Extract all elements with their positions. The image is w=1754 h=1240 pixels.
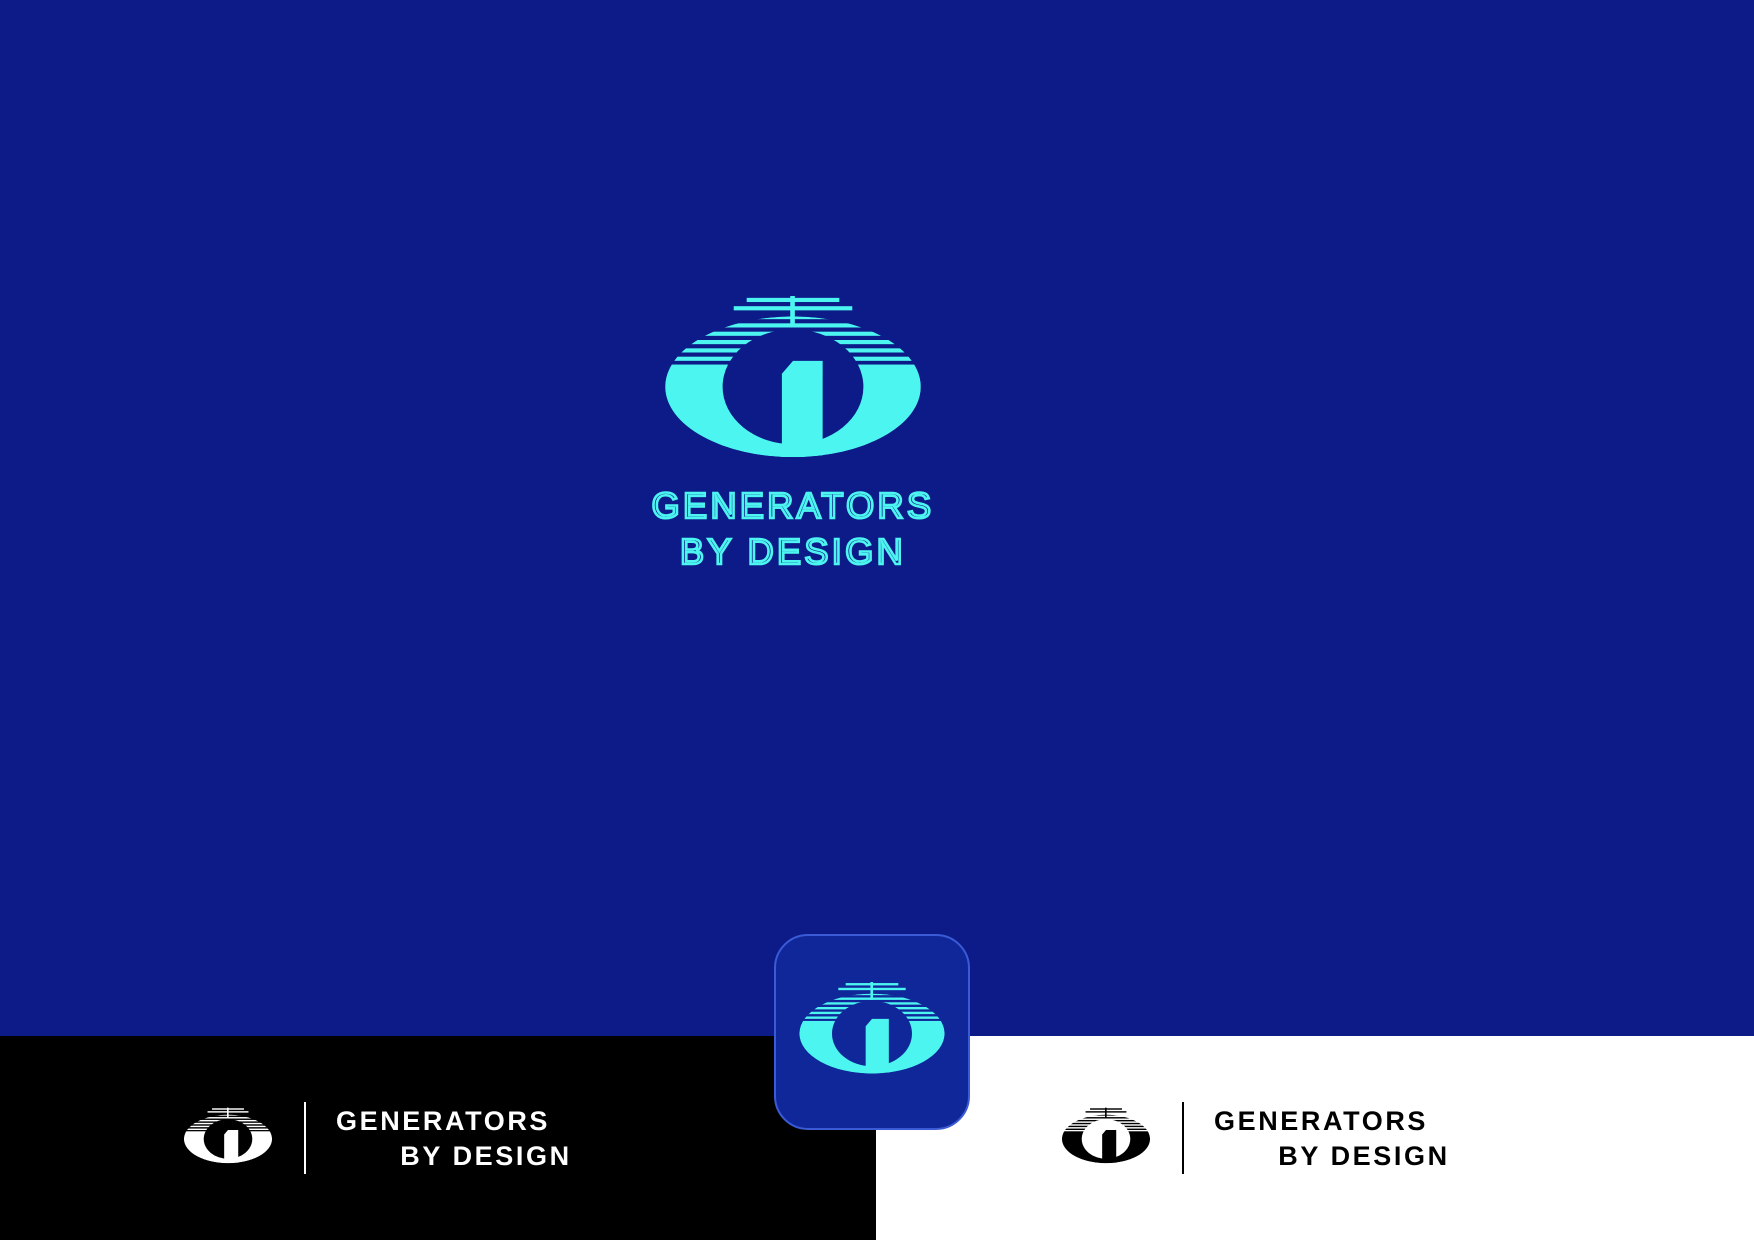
- lockup-divider: [304, 1102, 306, 1174]
- primary-wordmark: GENERATORS BY DESIGN: [621, 486, 965, 572]
- wordmark-line-1: GENERATORS: [336, 1106, 636, 1136]
- app-icon-tile[interactable]: [774, 934, 970, 1130]
- svg-text:GENERATORS: GENERATORS: [1214, 1106, 1428, 1136]
- logo-mark-icon-cyan: [796, 982, 948, 1082]
- wordmark-line-2: BY DESIGN: [1214, 1141, 1514, 1171]
- svg-text:GENERATORS: GENERATORS: [652, 486, 935, 526]
- wordmark-line-1: GENERATORS: [621, 486, 965, 526]
- wordmark-line-2: BY DESIGN: [643, 532, 943, 572]
- svg-text:BY DESIGN: BY DESIGN: [1278, 1141, 1449, 1171]
- logo-presentation-board: GENERATORS BY DESIGN: [0, 0, 1754, 1240]
- wordmark-stack-black: GENERATORS BY DESIGN: [1214, 1106, 1514, 1171]
- primary-logo-lockup: GENERATORS BY DESIGN: [608, 296, 978, 572]
- svg-text:GENERATORS: GENERATORS: [336, 1106, 550, 1136]
- wordmark-line-1: GENERATORS: [1214, 1106, 1514, 1136]
- svg-text:BY DESIGN: BY DESIGN: [400, 1141, 571, 1171]
- logo-mark-icon-black: [1060, 1107, 1152, 1169]
- wordmark-stack-white: GENERATORS BY DESIGN: [336, 1106, 636, 1171]
- horizontal-lockup-on-white: GENERATORS BY DESIGN: [1060, 1102, 1514, 1174]
- lockup-divider: [1182, 1102, 1184, 1174]
- svg-text:BY DESIGN: BY DESIGN: [680, 532, 906, 572]
- logo-mark-icon: [649, 296, 937, 472]
- wordmark-line-2: BY DESIGN: [336, 1141, 636, 1171]
- horizontal-lockup-on-black: GENERATORS BY DESIGN: [182, 1102, 636, 1174]
- logo-mark-icon-white: [182, 1107, 274, 1169]
